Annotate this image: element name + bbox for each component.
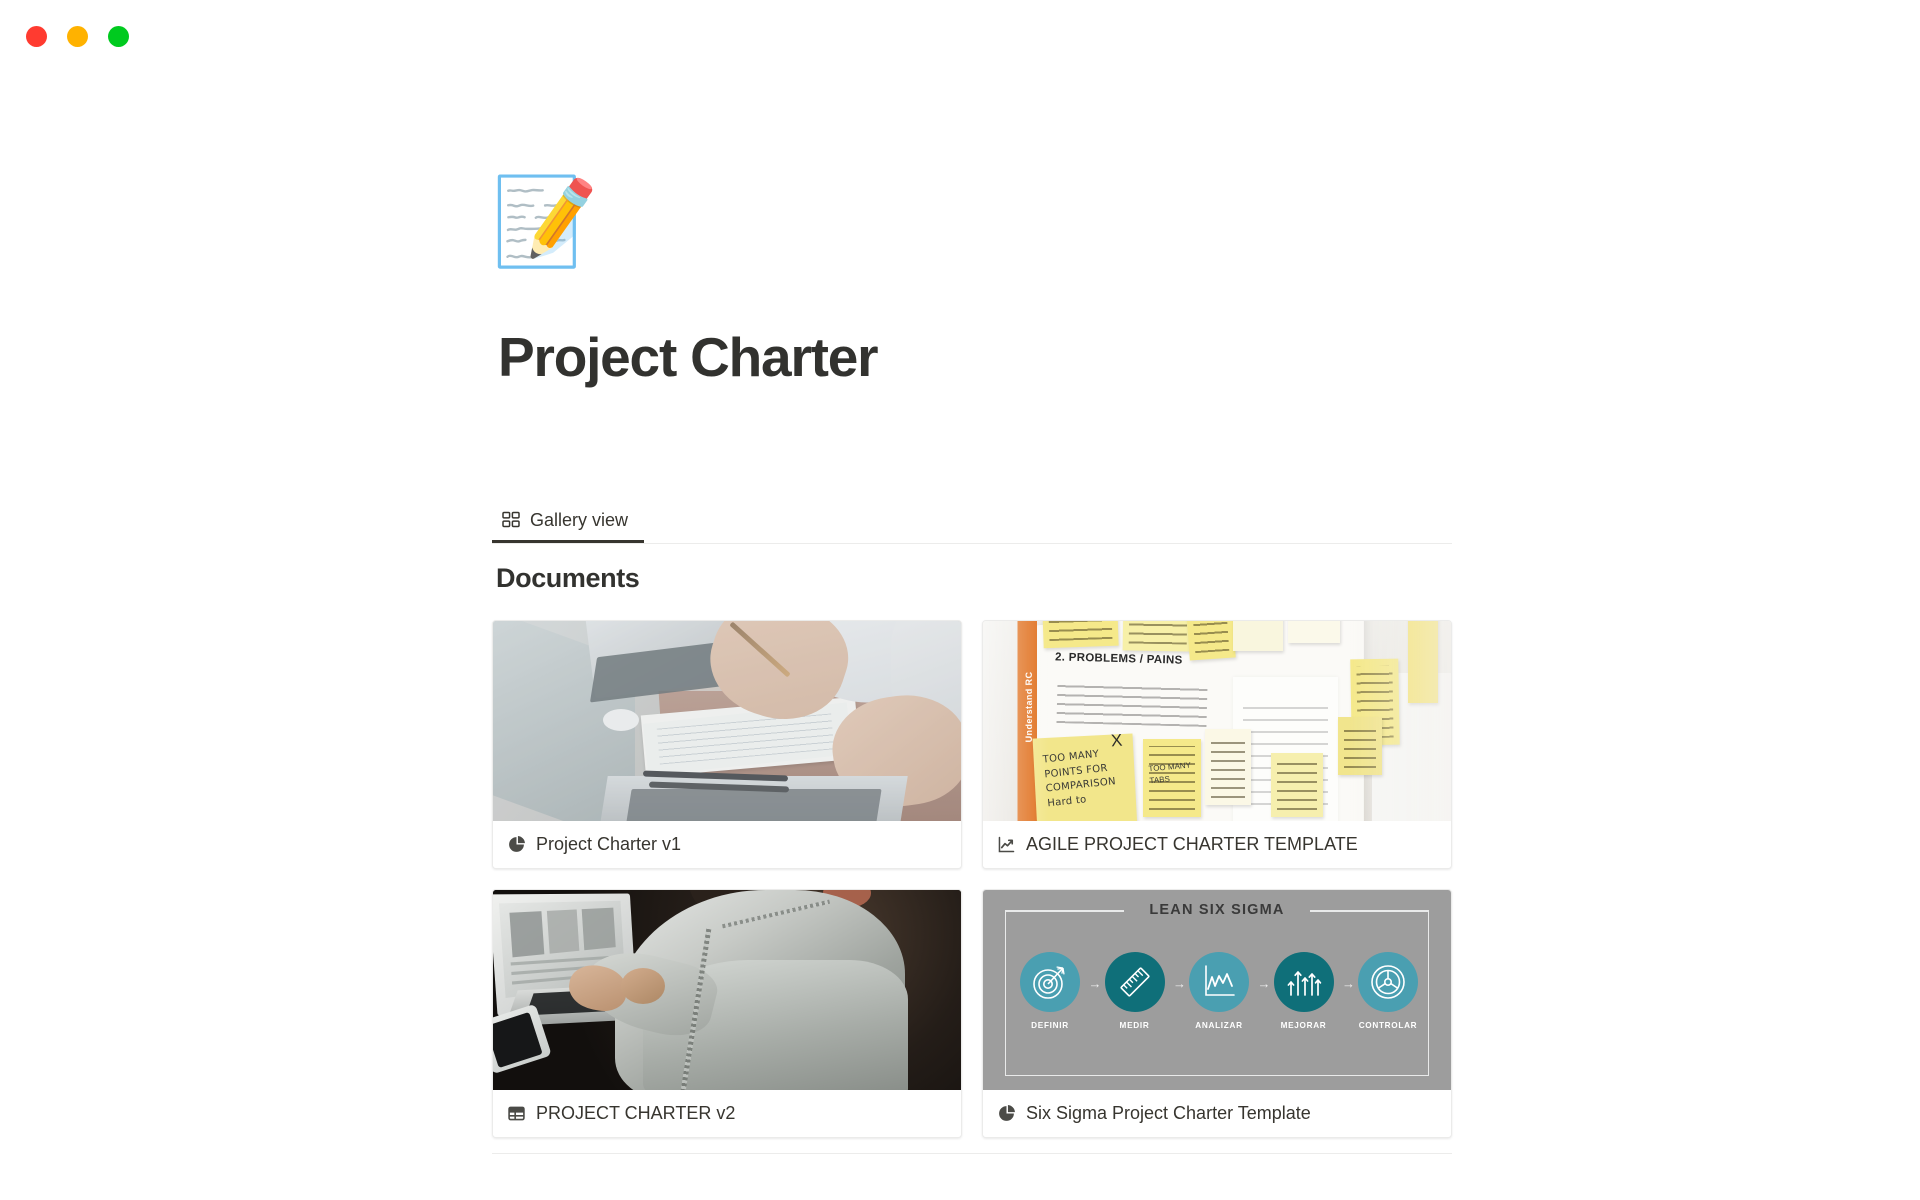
card-footer: AGILE PROJECT CHARTER TEMPLATE bbox=[983, 821, 1451, 868]
infographic-stages: DEFINIR → MEDIR bbox=[1013, 952, 1425, 1030]
close-button[interactable] bbox=[26, 26, 47, 47]
memo-pencil-emoji[interactable]: 📝 bbox=[501, 168, 589, 276]
card-footer: Six Sigma Project Charter Template bbox=[983, 1090, 1451, 1137]
infographic-stage: DEFINIR → bbox=[1013, 952, 1087, 1030]
ruler-icon bbox=[1105, 952, 1165, 1012]
page-content: 📝 Project Charter Gallery view Documents bbox=[492, 0, 1452, 1200]
traffic-lights bbox=[26, 26, 129, 47]
view-tab-bar: Gallery view bbox=[492, 500, 1452, 544]
card-thumbnail-person-laptop-dark bbox=[493, 890, 961, 1090]
line-chart-icon bbox=[1189, 952, 1249, 1012]
infographic-title: LEAN SIX SIGMA bbox=[983, 902, 1451, 918]
infographic-stage-label: DEFINIR bbox=[1013, 1021, 1087, 1030]
card-thumbnail-desk-laptops-hands bbox=[493, 621, 961, 821]
gallery-grid-icon bbox=[502, 511, 520, 529]
up-arrows-icon bbox=[1274, 952, 1334, 1012]
line-chart-up-icon bbox=[997, 835, 1016, 854]
gallery-card[interactable]: LEAN SIX SIGMA DEFINIR bbox=[982, 889, 1452, 1138]
card-thumbnail-lean-six-sigma: LEAN SIX SIGMA DEFINIR bbox=[983, 890, 1451, 1090]
infographic-stage: MEDIR → bbox=[1098, 952, 1172, 1030]
card-footer: PROJECT CHARTER v2 bbox=[493, 1090, 961, 1137]
gallery-card[interactable]: PROJECT CHARTER v2 bbox=[492, 889, 962, 1138]
tab-gallery-view-label: Gallery view bbox=[530, 510, 628, 531]
page-title[interactable]: Project Charter bbox=[498, 325, 877, 389]
card-footer: Project Charter v1 bbox=[493, 821, 961, 868]
section-divider bbox=[492, 1153, 1452, 1154]
card-title: Six Sigma Project Charter Template bbox=[1026, 1103, 1311, 1124]
target-arrow-icon bbox=[1020, 952, 1080, 1012]
infographic-stage-label: ANALIZAR bbox=[1182, 1021, 1256, 1030]
gallery-card[interactable]: Project Charter v1 bbox=[492, 620, 962, 869]
card-title: Project Charter v1 bbox=[536, 834, 681, 855]
table-grid-icon bbox=[507, 1104, 526, 1123]
card-title: PROJECT CHARTER v2 bbox=[536, 1103, 735, 1124]
infographic-stage-label: MEDIR bbox=[1098, 1021, 1172, 1030]
card-title: AGILE PROJECT CHARTER TEMPLATE bbox=[1026, 834, 1358, 855]
pie-chart-icon bbox=[997, 1104, 1016, 1123]
pie-chart-icon bbox=[507, 835, 526, 854]
section-title-documents[interactable]: Documents bbox=[496, 563, 639, 594]
steering-wheel-icon bbox=[1358, 952, 1418, 1012]
gallery-card[interactable]: Understand RC 2. PROBLEMS / PAINS X TOO … bbox=[982, 620, 1452, 869]
infographic-stage: CONTROLAR bbox=[1351, 952, 1425, 1030]
infographic-stage: ANALIZAR → bbox=[1182, 952, 1256, 1030]
card-thumbnail-sticky-notes-wall: Understand RC 2. PROBLEMS / PAINS X TOO … bbox=[983, 621, 1451, 821]
minimize-button[interactable] bbox=[67, 26, 88, 47]
infographic-stage-label: MEJORAR bbox=[1267, 1021, 1341, 1030]
infographic-stage: MEJORAR → bbox=[1267, 952, 1341, 1030]
zoom-button[interactable] bbox=[108, 26, 129, 47]
infographic-stage-label: CONTROLAR bbox=[1351, 1021, 1425, 1030]
tab-gallery-view[interactable]: Gallery view bbox=[492, 500, 644, 543]
gallery-grid: Project Charter v1 Understand RC 2. PROB… bbox=[492, 620, 1452, 1138]
